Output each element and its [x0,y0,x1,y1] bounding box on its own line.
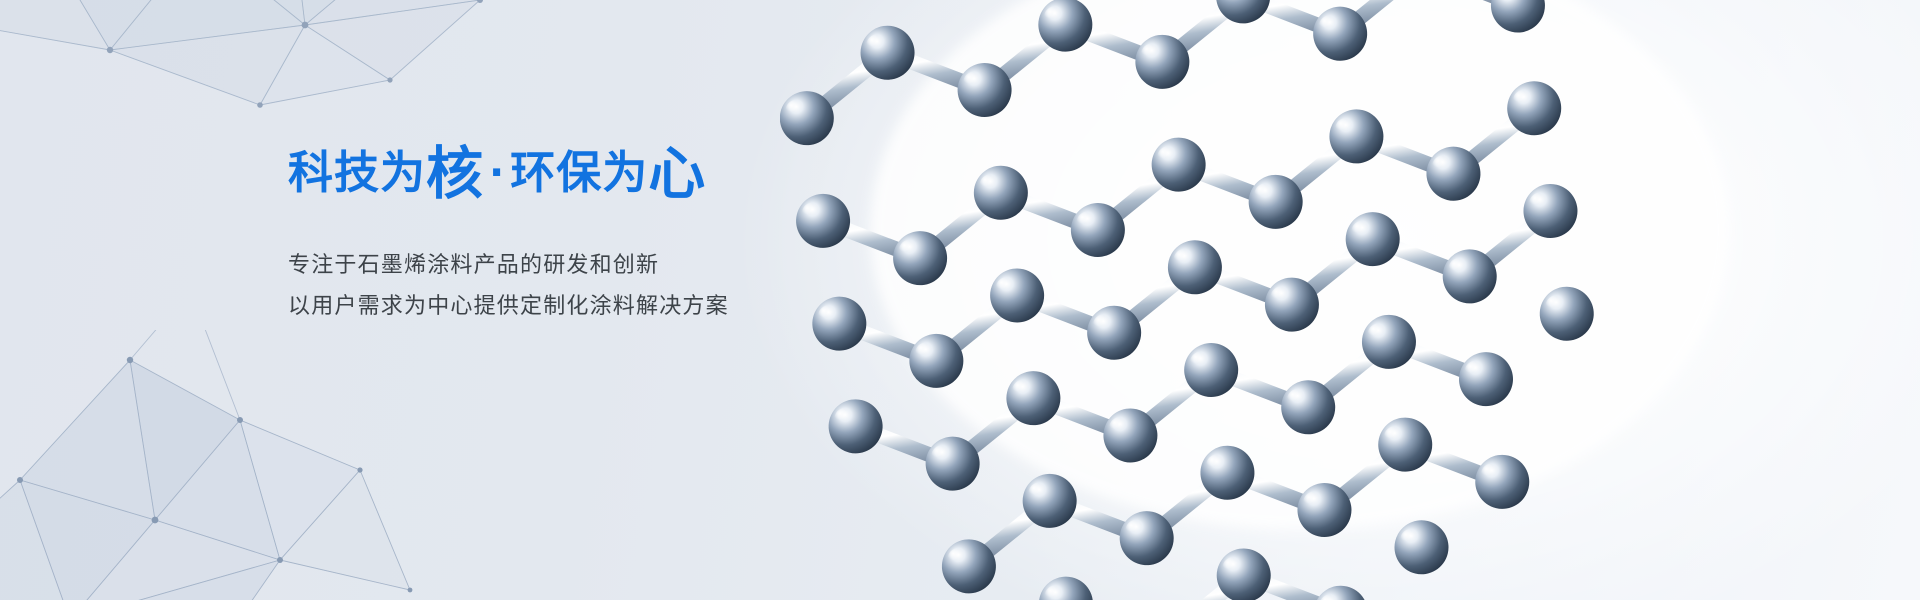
banner-subtitle: 专注于石墨烯涂料产品的研发和创新 以用户需求为中心提供定制化涂料解决方案 [288,245,928,327]
headline-part-2: 环保为 [510,146,648,199]
headline-emphasis-1: 核 [426,141,484,207]
subtitle-line-1: 专注于石墨烯涂料产品的研发和创新 [288,245,928,286]
page-title: 科技为核·环保为心 [288,146,928,203]
hero-banner: 科技为核·环保为心 专注于石墨烯涂料产品的研发和创新 以用户需求为中心提供定制化… [0,0,1920,600]
subtitle-line-2: 以用户需求为中心提供定制化涂料解决方案 [288,286,928,327]
headline-emphasis-2: 心 [648,141,706,207]
low-poly-network-bottom-left-graphic [0,330,640,600]
banner-text-block: 科技为核·环保为心 专注于石墨烯涂料产品的研发和创新 以用户需求为中心提供定制化… [288,146,928,327]
headline-part-1: 科技为 [288,146,426,199]
graphene-lattice-graphic [780,0,1920,600]
headline-separator: · [484,150,510,196]
